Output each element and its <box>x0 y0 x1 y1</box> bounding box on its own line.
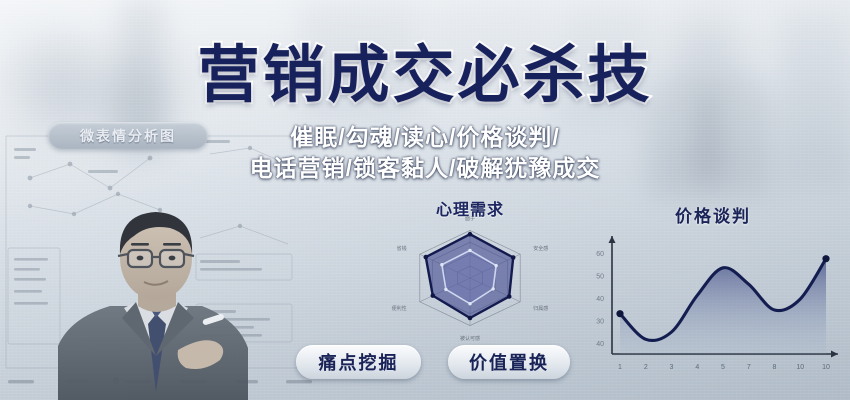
svg-text:被认可感: 被认可感 <box>460 335 480 342</box>
svg-text:7: 7 <box>747 364 751 371</box>
svg-text:安全感: 安全感 <box>533 245 548 252</box>
presenter-photo <box>52 196 260 400</box>
svg-text:4: 4 <box>695 364 699 371</box>
svg-text:8: 8 <box>773 364 777 371</box>
svg-text:5: 5 <box>721 364 725 371</box>
svg-text:省钱: 省钱 <box>397 245 407 252</box>
marketing-banner: 营销成交必杀技 催眠/勾魂/读心/价格谈判/ 电话营销/锁客黏人/破解犹豫成交 … <box>0 0 850 400</box>
svg-text:1: 1 <box>618 364 622 371</box>
subtitle-line-2: 电话营销/锁客黏人/破解犹豫成交 <box>0 153 850 184</box>
svg-text:30: 30 <box>596 319 604 326</box>
radar-chart: 心理需求 面子安全感归属感被认可感便利性省钱 <box>350 196 590 348</box>
page-title: 营销成交必杀技 <box>0 40 850 112</box>
svg-text:3: 3 <box>670 364 674 371</box>
page-title-text: 营销成交必杀技 <box>197 41 652 110</box>
svg-text:面子: 面子 <box>465 215 475 222</box>
svg-text:60: 60 <box>596 251 604 258</box>
svg-text:归属感: 归属感 <box>533 305 548 312</box>
micro-expression-badge: 微表情分析图 <box>48 122 208 149</box>
svg-text:40: 40 <box>596 341 604 348</box>
svg-text:便利性: 便利性 <box>392 305 407 312</box>
line-chart-plot: 6050403040 12345781010 <box>568 222 850 386</box>
tag-pill-value-exchange[interactable]: 价值置换 <box>448 345 570 379</box>
line-chart: 价格谈判 6050403040 12345781010 <box>568 196 850 386</box>
svg-text:50: 50 <box>596 274 604 281</box>
tag-pill-pain-point[interactable]: 痛点挖掘 <box>296 345 421 379</box>
svg-text:10: 10 <box>796 364 804 371</box>
svg-text:40: 40 <box>596 296 604 303</box>
radar-chart-plot: 面子安全感归属感被认可感便利性省钱 <box>350 212 590 348</box>
svg-text:2: 2 <box>644 364 648 371</box>
svg-text:10: 10 <box>822 364 830 371</box>
